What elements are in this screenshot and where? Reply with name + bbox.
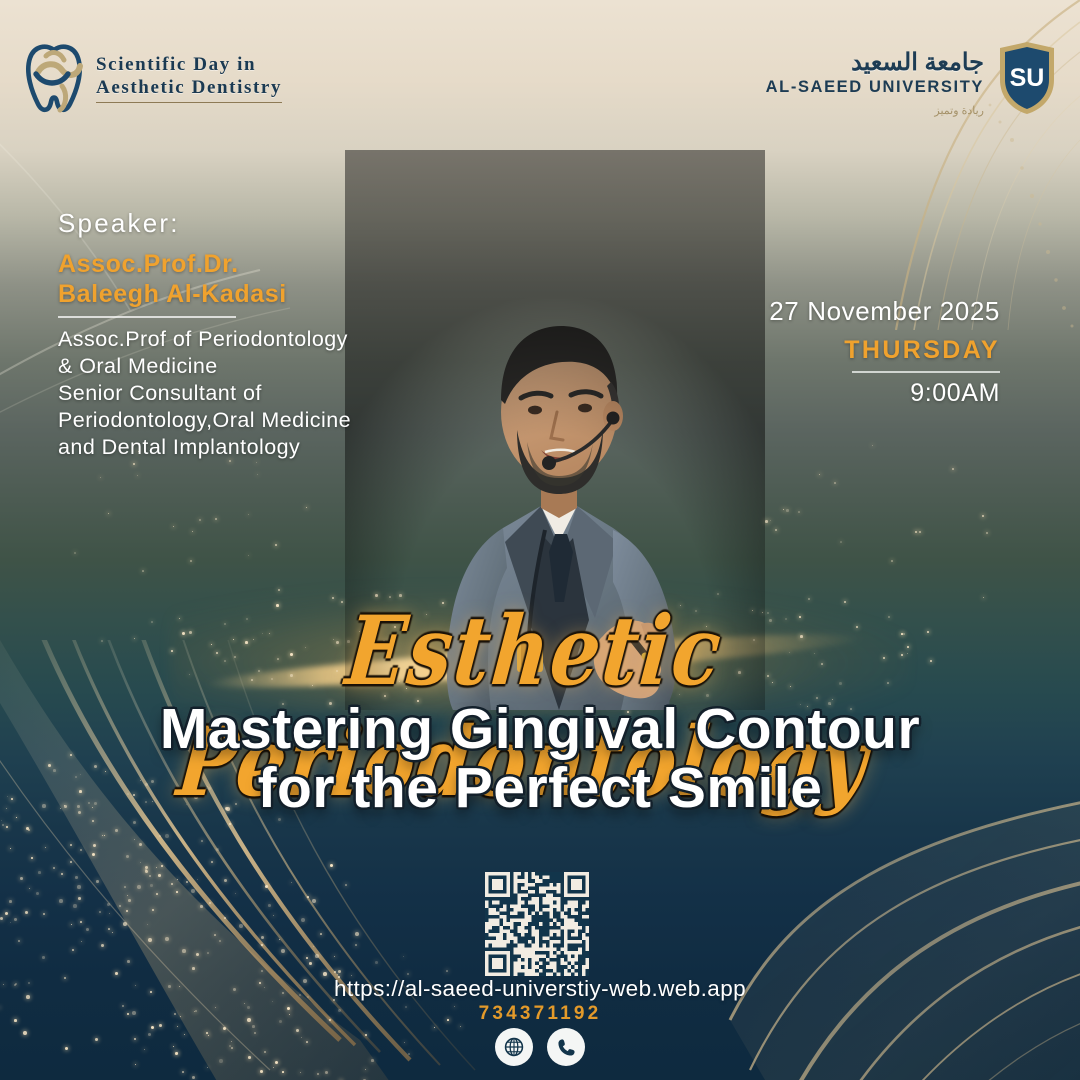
phone-link[interactable] xyxy=(547,1028,585,1066)
event-logo-line2: Aesthetic Dentistry xyxy=(96,76,282,99)
globe-link[interactable] xyxy=(495,1028,533,1066)
speaker-name-line2: Baleegh Al-Kadasi xyxy=(58,280,458,310)
event-datetime-divider xyxy=(852,371,1000,373)
main-title-line1: Mastering Gingival Contour xyxy=(0,700,1080,759)
website-url[interactable]: https://al-saeed-universtiy-web.web.app xyxy=(0,976,1080,1002)
speaker-name: Assoc.Prof.Dr. Baleegh Al-Kadasi xyxy=(58,250,458,309)
university-text: جامعة السعيد AL-SAEED UNIVERSITY ريادة و… xyxy=(766,40,984,117)
poster-canvas: Scientific Day in Aesthetic Dentistry جا… xyxy=(0,0,1080,1080)
event-time: 9:00AM xyxy=(730,379,1000,408)
qr-code[interactable] xyxy=(485,872,589,976)
globe-icon xyxy=(503,1036,525,1058)
speaker-role-line1: Assoc.Prof of Periodontology xyxy=(58,326,458,353)
event-weekday: THURSDAY xyxy=(730,336,1000,365)
event-datetime-block: 27 November 2025 THURSDAY 9:00AM xyxy=(730,296,1000,408)
qr-code-image xyxy=(485,872,589,976)
event-logo-rule xyxy=(96,102,282,104)
speaker-name-line1: Assoc.Prof.Dr. xyxy=(58,250,458,280)
speaker-role-line4: Periodontology,Oral Medicine xyxy=(58,407,458,434)
speaker-role-line2: & Oral Medicine xyxy=(58,353,458,380)
tooth-infinity-logo-icon xyxy=(22,42,86,114)
main-title-line2: for the Perfect Smile xyxy=(0,759,1080,818)
phone-icon xyxy=(556,1037,577,1058)
speaker-role-line5: and Dental Implantology xyxy=(58,434,458,461)
su-shield-text: SU xyxy=(1010,64,1045,92)
phone-number[interactable]: 734371192 xyxy=(0,1003,1080,1025)
speaker-label: Speaker: xyxy=(58,208,458,239)
event-logo: Scientific Day in Aesthetic Dentistry xyxy=(22,42,282,114)
speaker-block: Speaker: Assoc.Prof.Dr. Baleegh Al-Kadas… xyxy=(58,208,458,461)
university-name-en: AL-SAEED UNIVERSITY xyxy=(766,78,984,97)
speaker-divider xyxy=(58,316,236,318)
event-logo-title: Scientific Day in Aesthetic Dentistry xyxy=(96,53,282,104)
speaker-role: Assoc.Prof of Periodontology & Oral Medi… xyxy=(58,326,458,461)
university-name-ar: جامعة السعيد xyxy=(766,50,984,76)
university-tagline-ar: ريادة وتميز xyxy=(766,104,984,117)
social-links xyxy=(0,1028,1080,1066)
speaker-role-line3: Senior Consultant of xyxy=(58,380,458,407)
su-shield-icon: SU xyxy=(996,40,1058,116)
university-logo: جامعة السعيد AL-SAEED UNIVERSITY ريادة و… xyxy=(766,40,1058,117)
main-title: Mastering Gingival Contour for the Perfe… xyxy=(0,700,1080,819)
event-logo-line1: Scientific Day in xyxy=(96,53,282,76)
event-date: 27 November 2025 xyxy=(730,296,1000,327)
